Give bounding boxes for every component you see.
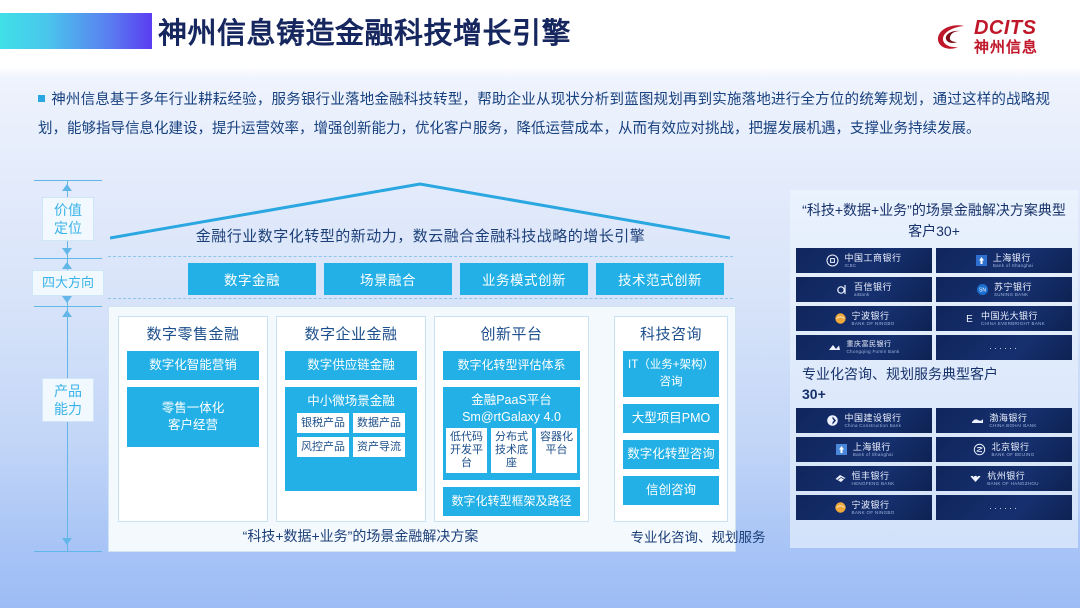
direction-scenario-fusion[interactable]: 场景融合	[324, 263, 452, 295]
logo-ccb: 中国建设银行 China Construction Bank	[796, 408, 932, 433]
logo-icbc: 中国工商银行 ICBC	[796, 248, 932, 273]
customer-logos-panel: “科技+数据+业务”的场景金融解决方案典型客户30+ 中国工商银行 ICBC 上…	[790, 190, 1078, 548]
logo-label-cn: 上海银行	[853, 442, 891, 452]
direction-tech-paradigm-innovation[interactable]: 技术范式创新	[596, 263, 724, 295]
logo-label-en: ICBC	[844, 263, 856, 268]
paas-cell-lowcode[interactable]: 低代码开发平台	[446, 428, 487, 473]
logo-label-cn: 上海银行	[993, 253, 1031, 263]
tile-msme-scenario-finance[interactable]: 中小微场景金融 银税产品 数据产品 风控产品 资产导流	[285, 387, 417, 491]
logo-everbright-bank: E 中国光大银行 CHINA EVERBRIGHT BANK	[936, 306, 1072, 331]
divider-upper	[108, 256, 733, 257]
axis-label-four-directions: 四大方向	[32, 270, 104, 296]
tile-xinchuang-consulting[interactable]: 信创咨询	[623, 476, 719, 505]
tile-digital-smart-marketing[interactable]: 数字化智能营销	[127, 351, 259, 380]
tile-digital-transformation-assessment-system[interactable]: 数字化转型评估体系	[443, 351, 580, 380]
tile-transformation-framework-path[interactable]: 数字化转型框架及路径	[443, 487, 580, 516]
axis-label-product-capability: 产品能力	[42, 378, 94, 422]
logo-label-en: Bank of Shanghai	[853, 452, 893, 457]
dcits-logo-text: DCITS 神州信息	[974, 18, 1038, 55]
page-header: 神州信息铸造金融科技增长引擎 DCITS 神州信息	[0, 0, 1080, 70]
ellipsis-icon: ······	[989, 343, 1019, 353]
axis-label-value-position: 价值定位	[42, 197, 94, 241]
logo-label-en: BANK OF NINGBO	[852, 510, 895, 515]
logo-bank-of-beijing: 北京银行 BANK OF BEIJING	[936, 437, 1072, 462]
header-accent-bar	[0, 13, 152, 49]
ningbo-bank-icon	[834, 501, 847, 514]
column-digital-enterprise-finance[interactable]: 数字企业金融 数字供应链金融 中小微场景金融 银税产品 数据产品 风控产品 资产…	[276, 316, 426, 522]
logo-en-label: DCITS	[974, 18, 1038, 38]
fumin-bank-icon	[828, 341, 841, 354]
sub-chip-grid: 银税产品 数据产品 风控产品 资产导流	[287, 413, 415, 457]
hengfeng-bank-icon	[834, 472, 847, 485]
everbright-icon: E	[963, 312, 976, 325]
paas-cell-row: 低代码开发平台 分布式技术底座 容器化平台	[446, 428, 577, 473]
intro-text: 神州信息基于多年行业耕耘经验，服务银行业落地金融科技转型，帮助企业从现状分析到蓝…	[38, 92, 1050, 137]
page-title: 神州信息铸造金融科技增长引擎	[158, 10, 571, 52]
logo-label-en: SUNING BANK	[994, 292, 1028, 297]
logo-label-en: aiBank	[854, 292, 870, 297]
four-directions-row: 数字金融 场景融合 业务模式创新 技术范式创新	[188, 263, 724, 295]
customer-group1-grid: 中国工商银行 ICBC 上海银行 Bank of Shanghai 百信银行 a…	[790, 248, 1078, 360]
logo-label-cn: 恒丰银行	[852, 471, 890, 481]
logo-more-1: ······	[936, 335, 1072, 360]
logo-cn-label: 神州信息	[974, 40, 1038, 55]
logo-label-cn: 北京银行	[991, 442, 1029, 452]
logo-label-cn: 中国光大银行	[981, 311, 1038, 321]
logo-label-cn: 重庆富民银行	[846, 341, 891, 349]
bullet-icon	[38, 95, 45, 102]
logo-bank-of-shanghai-2: 上海银行 Bank of Shanghai	[796, 437, 932, 462]
logo-label-cn: 宁波银行	[852, 311, 890, 321]
logo-label-en: Chongqing Fumin Bank	[846, 349, 899, 354]
column-title: 创新平台	[443, 323, 580, 344]
chip-data-product[interactable]: 数据产品	[353, 413, 405, 433]
logo-bank-of-shanghai: 上海银行 Bank of Shanghai	[936, 248, 1072, 273]
column-innovation-platform[interactable]: 创新平台 数字化转型评估体系 金融PaaS平台 Sm@rtGalaxy 4.0 …	[434, 316, 589, 522]
logo-label-en: BANK OF HANGZHOU	[987, 481, 1039, 486]
caption-left: “科技+数据+业务”的场景金融解决方案	[108, 522, 613, 550]
dcits-logo-mark	[934, 20, 968, 54]
tile-digital-supply-chain-finance[interactable]: 数字供应链金融	[285, 351, 417, 380]
product-capability-panel: 数字零售金融 数字化智能营销 零售一体化客户经营 数字企业金融 数字供应链金融 …	[108, 306, 736, 552]
caption-right: 专业化咨询、规划服务	[617, 522, 779, 550]
vision-statement-band: 金融行业数字化转型的新动力，数云融合金融科技战略的增长引擎	[108, 215, 733, 255]
logo-label-cn: 百信银行	[854, 282, 892, 292]
vision-statement: 金融行业数字化转型的新动力，数云融合金融科技战略的增长引擎	[196, 225, 646, 246]
suning-icon: SN	[976, 283, 989, 296]
chip-asset-diversion[interactable]: 资产导流	[353, 437, 405, 457]
logo-label-en: CHINA EVERBRIGHT BANK	[981, 321, 1045, 326]
customer-group2-title-line1: 专业化咨询、规划服务典型客户	[802, 364, 1066, 384]
logo-label-en: HENGFENG BANK	[852, 481, 895, 486]
beijing-bank-icon	[973, 443, 986, 456]
ellipsis-icon: ······	[989, 503, 1019, 513]
logo-suning-bank: SN 苏宁银行 SUNING BANK	[936, 277, 1072, 302]
customer-group2-grid: 中国建设银行 China Construction Bank 渤海银行 CHIN…	[790, 408, 1078, 520]
logo-label-cn: 渤海银行	[989, 413, 1027, 423]
logo-label-cn: 中国工商银行	[844, 253, 901, 263]
paas-cell-container[interactable]: 容器化平台	[536, 428, 577, 473]
tile-financial-paas-platform[interactable]: 金融PaaS平台 Sm@rtGalaxy 4.0 低代码开发平台 分布式技术底座…	[443, 387, 580, 480]
tile-large-project-pmo[interactable]: 大型项目PMO	[623, 404, 719, 433]
logo-label-en: CHINA BOHAI BANK	[989, 423, 1036, 428]
tile-it-consulting[interactable]: IT（业务+架构）咨询	[623, 351, 719, 397]
logo-label-cn: 杭州银行	[987, 471, 1025, 481]
logo-more-2: ······	[936, 495, 1072, 520]
chip-risk-control-product[interactable]: 风控产品	[297, 437, 349, 457]
logo-label-en: Bank of Shanghai	[993, 263, 1033, 268]
logo-bank-of-ningbo: 宁波银行 BANK OF NINGBO	[796, 306, 932, 331]
divider-lower	[108, 298, 733, 299]
svg-text:SN: SN	[979, 288, 986, 294]
customer-group2-title: 专业化咨询、规划服务典型客户 30+	[790, 360, 1078, 408]
column-title: 科技咨询	[623, 323, 719, 344]
chip-bank-tax-product[interactable]: 银税产品	[297, 413, 349, 433]
paas-cell-distributed[interactable]: 分布式技术底座	[491, 428, 532, 473]
logo-aibank: 百信银行 aiBank	[796, 277, 932, 302]
dcits-logo: DCITS 神州信息	[934, 18, 1038, 55]
paas-title-line1: 金融PaaS平台	[446, 392, 577, 409]
shanghai-bank-icon	[975, 254, 988, 267]
logo-bohai-bank: 渤海银行 CHINA BOHAI BANK	[936, 408, 1072, 433]
logo-label-cn: 中国建设银行	[844, 413, 901, 423]
logo-bank-of-hangzhou: 杭州银行 BANK OF HANGZHOU	[936, 466, 1072, 491]
shanghai-bank-icon	[835, 443, 848, 456]
tile-label: 中小微场景金融	[287, 393, 415, 410]
left-axis: 价值定位 四大方向 产品能力	[34, 180, 102, 552]
tile-digital-transformation-consulting[interactable]: 数字化转型咨询	[623, 440, 719, 469]
logo-label-en: China Construction Bank	[844, 423, 901, 428]
column-title: 数字企业金融	[285, 323, 417, 344]
intro-paragraph: 神州信息基于多年行业耕耘经验，服务银行业落地金融科技转型，帮助企业从现状分析到蓝…	[38, 86, 1050, 144]
aibank-icon	[836, 283, 849, 296]
logo-fumin-bank: 重庆富民银行 Chongqing Fumin Bank	[796, 335, 932, 360]
ningbo-bank-icon	[834, 312, 847, 325]
bohai-bank-icon	[971, 414, 984, 427]
paas-title-line2: Sm@rtGalaxy 4.0	[446, 409, 577, 426]
column-digital-retail-finance[interactable]: 数字零售金融 数字化智能营销 零售一体化客户经营	[118, 316, 268, 522]
logo-label-en: BANK OF BEIJING	[991, 452, 1034, 457]
logo-label-en: BANK OF NINGBO	[852, 321, 895, 326]
icbc-icon	[826, 254, 839, 267]
logo-label-cn: 宁波银行	[852, 500, 890, 510]
column-title: 数字零售金融	[127, 323, 259, 344]
logo-bank-of-ningbo-2: 宁波银行 BANK OF NINGBO	[796, 495, 932, 520]
customer-group2-title-line2: 30+	[802, 384, 1066, 404]
hangzhou-bank-icon	[969, 472, 982, 485]
ccb-icon	[826, 414, 839, 427]
direction-business-model-innovation[interactable]: 业务模式创新	[460, 263, 588, 295]
logo-label-cn: 苏宁银行	[994, 282, 1032, 292]
customer-group1-title: “科技+数据+业务”的场景金融解决方案典型客户30+	[790, 190, 1078, 248]
svg-text:E: E	[966, 314, 973, 325]
column-tech-consulting[interactable]: 科技咨询 IT（业务+架构）咨询 大型项目PMO 数字化转型咨询 信创咨询	[614, 316, 728, 522]
direction-digital-finance[interactable]: 数字金融	[188, 263, 316, 295]
tile-retail-integrated-customer-operation[interactable]: 零售一体化客户经营	[127, 387, 259, 447]
logo-hengfeng-bank: 恒丰银行 HENGFENG BANK	[796, 466, 932, 491]
